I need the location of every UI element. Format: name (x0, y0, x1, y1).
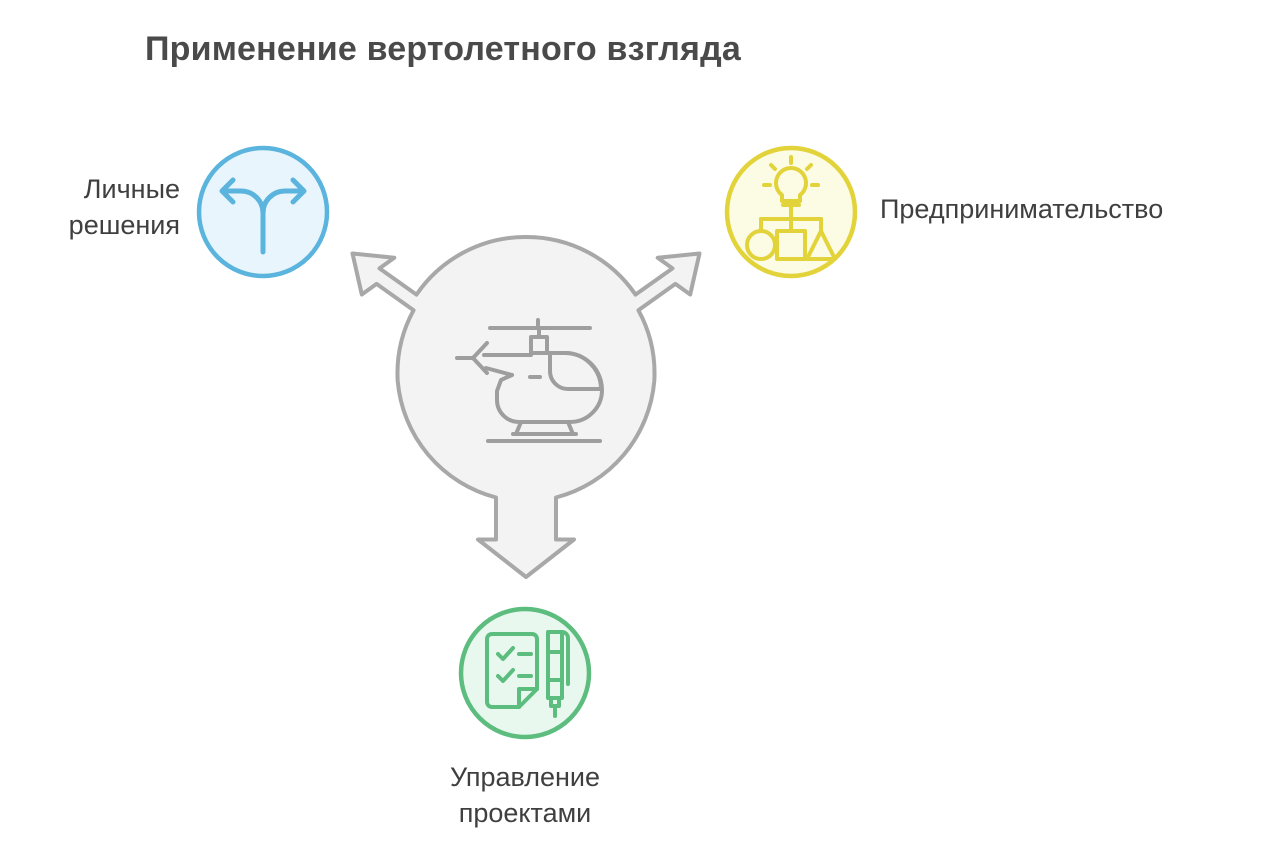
hub-shape (353, 237, 700, 577)
node-personal-decisions[interactable] (199, 148, 327, 276)
label-personal-decisions-line1: Личные (0, 172, 180, 208)
node-project-management[interactable] (461, 609, 589, 737)
label-personal-decisions-line2: решения (0, 208, 180, 244)
hub-with-arrows (353, 237, 700, 577)
label-project-management-line1: Управление (345, 760, 705, 796)
label-entrepreneurship: Предпринимательство (880, 192, 1280, 228)
diagram-graphics (0, 0, 1286, 858)
label-personal-decisions: Личные решения (0, 172, 180, 243)
label-project-management: Управление проектами (345, 760, 705, 831)
diagram-canvas: Применение вертолетного взгляда (0, 0, 1286, 858)
node-entrepreneurship[interactable] (727, 148, 855, 276)
label-project-management-line2: проектами (345, 796, 705, 832)
